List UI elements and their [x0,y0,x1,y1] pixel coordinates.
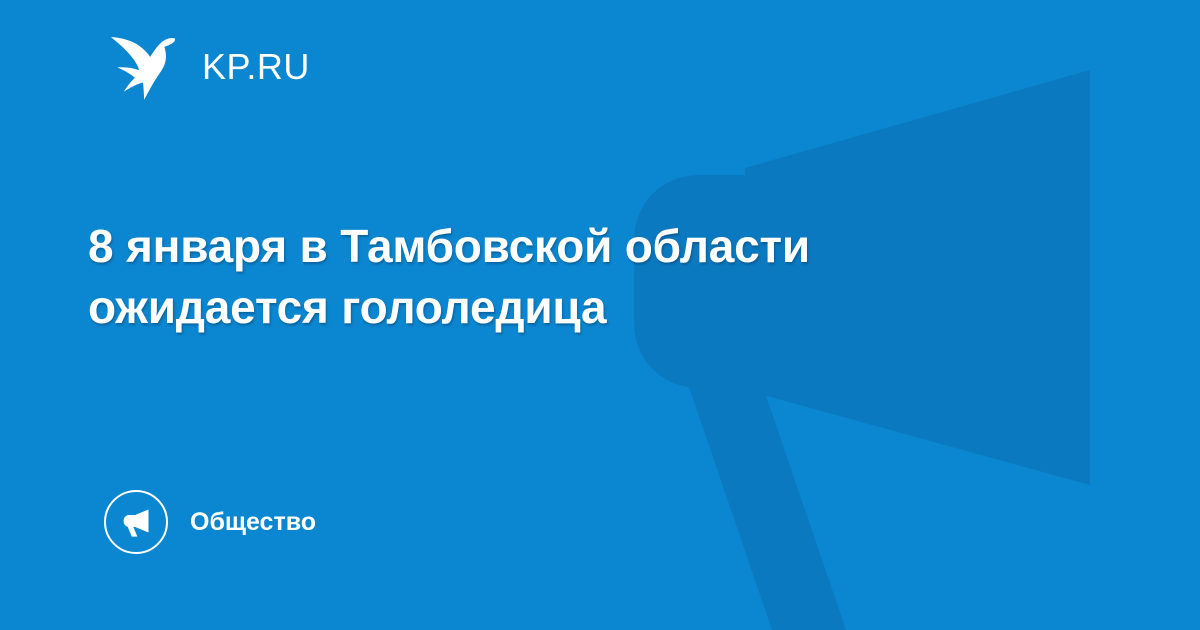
category-label: Общество [190,510,316,535]
megaphone-icon [119,505,153,539]
brand-wordmark: KP.RU [202,49,310,85]
site-header: KP.RU [108,34,310,100]
swallow-bird-icon [108,34,180,100]
category-badge[interactable]: Общество [104,490,316,554]
category-icon-circle [104,490,168,554]
headline: 8 января в Тамбовской области ожидается … [88,216,1038,338]
social-share-card: KP.RU 8 января в Тамбовской области ожид… [0,0,1200,630]
